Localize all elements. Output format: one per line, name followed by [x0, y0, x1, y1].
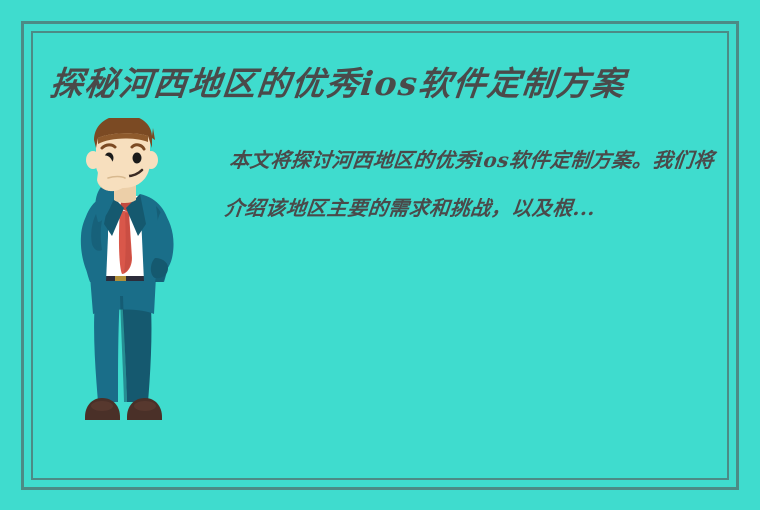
right-shoe-highlight: [134, 401, 156, 411]
page-title: 探秘河西地区的优秀ios软件定制方案: [47, 62, 712, 110]
body-paragraph: 本文将探讨河西地区的优秀ios软件定制方案。我们将介绍该地区主要的需求和挑战，以…: [222, 136, 724, 232]
left-shoe-highlight: [91, 401, 113, 411]
right-eye: [133, 153, 142, 164]
thinking-businessman-illustration: [52, 118, 202, 423]
poster-canvas: 探秘河西地区的优秀ios软件定制方案 本文将探讨河西地区的优秀ios软件定制方案…: [0, 0, 760, 510]
